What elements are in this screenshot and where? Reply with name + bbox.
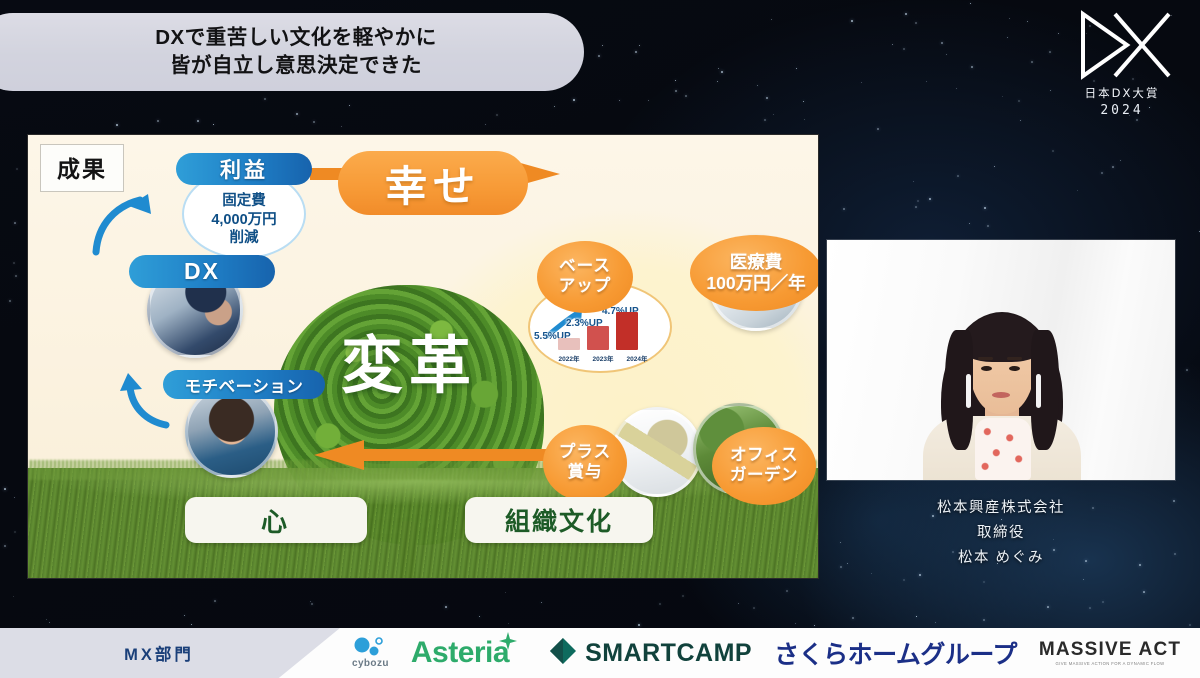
badge-office-garden: オフィス ガーデン <box>712 427 816 505</box>
sponsor-sakura-home-group[interactable]: さくらホームグループ <box>774 635 1017 671</box>
badge-bonus-line1: プラス <box>559 443 611 463</box>
presentation-slide: 変革 成果 <box>28 135 818 578</box>
chart-category-labels: 2022年2023年2024年 <box>554 353 654 363</box>
speaker-eye-right <box>1009 366 1020 371</box>
asteria-sparkle-icon <box>499 632 517 655</box>
cybozu-icon <box>353 637 387 657</box>
speaker-figure <box>913 304 1089 480</box>
speaker-caption: 松本興産株式会社 取締役 松本 めぐみ <box>827 496 1175 571</box>
label-organizational-culture: 組織文化 <box>465 497 653 543</box>
sponsor-smartcamp[interactable]: SMARTCAMP <box>549 637 752 670</box>
sakura-wordmark: さくらホームグループ <box>774 635 1017 671</box>
broadcast-stage: DXで重苦しい文化を軽やかに 皆が自立し意思決定できた 日本DX大賞 2024 … <box>0 0 1200 678</box>
speaker-earphone-right <box>1036 374 1041 408</box>
chart-bars <box>558 310 650 350</box>
slide-title-banner: DXで重苦しい文化を軽やかに 皆が自立し意思決定できた <box>0 13 584 91</box>
pill-motivation: モチベーション <box>163 370 325 399</box>
smartcamp-wordmark: SMARTCAMP <box>585 639 752 668</box>
speaker-brow-left <box>978 357 993 360</box>
cost-reduction-text: 固定費 4,000万円 削減 <box>211 180 276 248</box>
sponsor-cybozu[interactable]: cybozu <box>352 637 389 669</box>
pill-dx: DX <box>129 255 275 288</box>
speaker-mouth <box>992 392 1010 398</box>
speaker-video-panel[interactable] <box>827 240 1175 480</box>
badge-medical-cost: 医療費 100万円／年 <box>690 235 818 311</box>
speaker-company: 松本興産株式会社 <box>827 496 1175 521</box>
chart-bar <box>587 326 609 350</box>
badge-bonus-line2: 賞与 <box>559 463 611 483</box>
event-logo-year: 2024 <box>1062 103 1182 118</box>
speaker-brow-right <box>1007 357 1022 360</box>
speaker-eye-left <box>981 366 992 371</box>
badge-plus-bonus: プラス 賞与 <box>543 425 627 501</box>
massive-act-tagline: GIVE MASSIVE ACTION FOR A DYNAMIC FLOW <box>1056 662 1165 666</box>
sponsor-massive-act[interactable]: MASSIVE ACT GIVE MASSIVE ACTION FOR A DY… <box>1039 640 1181 666</box>
event-logo-name: 日本DX大賞 <box>1062 85 1182 101</box>
massive-act-wordmark: MASSIVE ACT <box>1039 640 1181 659</box>
badge-medical-line1: 医療費 <box>706 252 805 273</box>
badge-garden-line1: オフィス <box>730 446 798 466</box>
badge-base-up: ベース アップ <box>537 241 633 313</box>
arrow-left-orange-icon <box>314 440 560 470</box>
chart-category-label: 2023年 <box>588 353 618 363</box>
cybozu-wordmark: cybozu <box>352 659 389 669</box>
event-logo: 日本DX大賞 2024 <box>1062 8 1182 124</box>
label-heart: 心 <box>185 497 367 543</box>
badge-base-up-line1: ベース <box>559 257 612 277</box>
cycle-arrow-up-icon <box>88 190 158 265</box>
chart-category-label: 2024年 <box>622 353 652 363</box>
badge-base-up-line2: アップ <box>559 277 612 297</box>
dx-monogram-icon <box>1069 8 1175 82</box>
title-line-1: DXで重苦しい文化を軽やかに <box>121 24 436 52</box>
chart-category-label: 2022年 <box>554 353 584 363</box>
speaker-name: 松本 めぐみ <box>827 546 1175 571</box>
sponsor-bar: MX部門 cybozu Asteria <box>0 628 1200 678</box>
pill-happiness: 幸せ <box>338 151 528 215</box>
badge-garden-line2: ガーデン <box>730 466 798 486</box>
speaker-role: 取締役 <box>827 521 1175 546</box>
chart-bar <box>616 312 638 350</box>
sponsor-logos: cybozu Asteria SMARTCAMP <box>352 628 1181 678</box>
section-label-seika: 成果 <box>40 144 124 192</box>
chart-bar <box>558 338 580 350</box>
badge-medical-line2: 100万円／年 <box>706 273 805 294</box>
title-line-2: 皆が自立し意思決定できた <box>136 52 422 80</box>
speaker-earphone-left <box>966 374 971 408</box>
smartcamp-icon <box>549 637 577 670</box>
pill-profit: 利益 <box>176 153 312 185</box>
department-badge: MX部門 <box>0 628 340 678</box>
speaker-blouse <box>975 418 1031 480</box>
department-label: MX部門 <box>124 641 194 665</box>
grass-strip <box>28 468 818 578</box>
sponsor-asteria[interactable]: Asteria <box>411 636 527 670</box>
asteria-wordmark: Asteria <box>411 636 509 670</box>
